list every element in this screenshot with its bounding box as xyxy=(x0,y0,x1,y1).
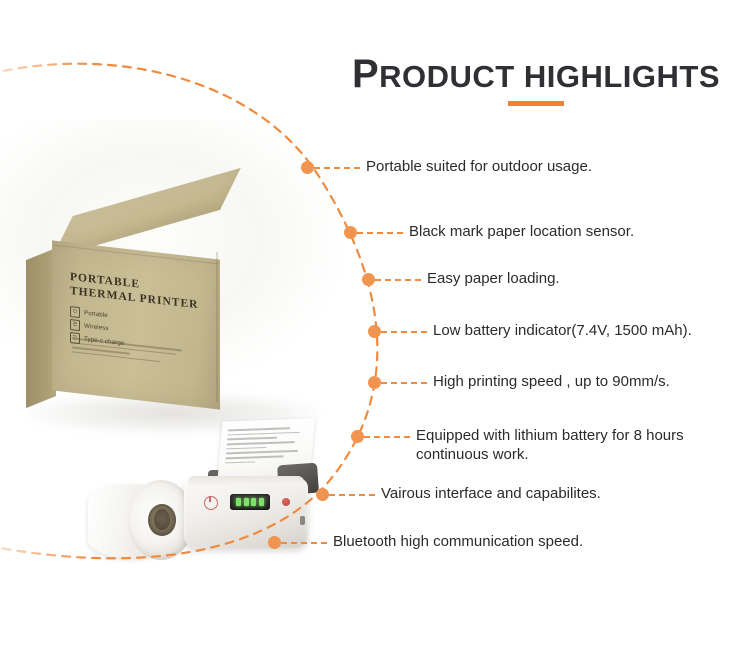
highlight-connector-line xyxy=(364,436,410,439)
roll-core-hole xyxy=(154,509,170,530)
box-right-edge xyxy=(216,252,218,402)
highlight-text: Easy paper loading. xyxy=(421,269,560,288)
highlight-bullet-dot xyxy=(351,430,364,443)
box-feature-label: Wireless xyxy=(84,323,109,333)
highlight-connector-line xyxy=(314,167,360,170)
highlight-text: Portable suited for outdoor usage. xyxy=(360,157,592,176)
highlight-bullet-dot xyxy=(344,226,357,239)
highlight-item: Black mark paper location sensor. xyxy=(344,222,634,241)
wireless-icon: ☰ xyxy=(70,319,80,331)
highlight-text: High printing speed , up to 90mm/s. xyxy=(427,372,670,391)
battery-led xyxy=(259,498,264,506)
title-initial: P xyxy=(352,52,379,96)
title-underline xyxy=(508,101,564,106)
highlight-item: Easy paper loading. xyxy=(362,269,560,288)
battery-led xyxy=(251,498,256,506)
highlight-text: Black mark paper location sensor. xyxy=(403,222,634,241)
highlight-connector-line xyxy=(381,382,427,385)
highlight-bullet-dot xyxy=(362,273,375,286)
receipt-text-lines xyxy=(225,427,307,467)
highlight-item: Portable suited for outdoor usage. xyxy=(301,157,592,176)
product-highlights-infographic: PORTABLE THERMAL PRINTER ⏻ Portable ☰ Wi… xyxy=(0,0,750,657)
highlight-bullet-dot xyxy=(368,376,381,389)
highlight-item: Low battery indicator(7.4V, 1500 mAh). xyxy=(368,321,692,340)
title-word-two: HIGHLIGHTS xyxy=(524,59,720,94)
highlight-connector-line xyxy=(375,279,421,282)
highlight-bullet-dot xyxy=(268,536,281,549)
charging-port xyxy=(300,516,305,525)
plug-icon: ⏻ xyxy=(70,306,80,318)
page-title-text: PRODUCT HIGHLIGHTS xyxy=(336,56,736,95)
product-photo: PORTABLE THERMAL PRINTER ⏻ Portable ☰ Wi… xyxy=(0,120,340,490)
highlight-item: Equipped with lithium battery for 8 hour… xyxy=(351,426,684,464)
battery-led xyxy=(244,498,249,506)
printer-top-lip xyxy=(188,476,304,486)
product-box: PORTABLE THERMAL PRINTER ⏻ Portable ☰ Wi… xyxy=(40,220,240,420)
highlight-text: Equipped with lithium battery for 8 hour… xyxy=(410,426,684,464)
battery-level-display xyxy=(230,494,270,510)
highlight-item: Bluetooth high communication speed. xyxy=(268,532,583,551)
highlight-text: Bluetooth high communication speed. xyxy=(327,532,583,551)
highlight-bullet-dot xyxy=(368,325,381,338)
highlight-text: Vairous interface and capabilites. xyxy=(375,484,601,503)
highlight-item: Vairous interface and capabilites. xyxy=(316,484,601,503)
title-word-one: RODUCT xyxy=(379,59,515,94)
highlight-connector-line xyxy=(281,542,327,545)
battery-led xyxy=(236,498,241,506)
highlight-connector-line xyxy=(329,494,375,497)
highlight-bullet-dot xyxy=(316,488,329,501)
highlight-bullet-dot xyxy=(301,161,314,174)
highlight-text: Low battery indicator(7.4V, 1500 mAh). xyxy=(427,321,692,340)
highlight-item: High printing speed , up to 90mm/s. xyxy=(368,372,670,391)
status-light-icon xyxy=(282,498,290,506)
highlight-connector-line xyxy=(381,331,427,334)
power-icon xyxy=(204,496,218,510)
highlight-connector-line xyxy=(357,232,403,235)
page-title: PRODUCT HIGHLIGHTS xyxy=(336,56,736,106)
box-feature-label: Portable xyxy=(84,310,108,320)
